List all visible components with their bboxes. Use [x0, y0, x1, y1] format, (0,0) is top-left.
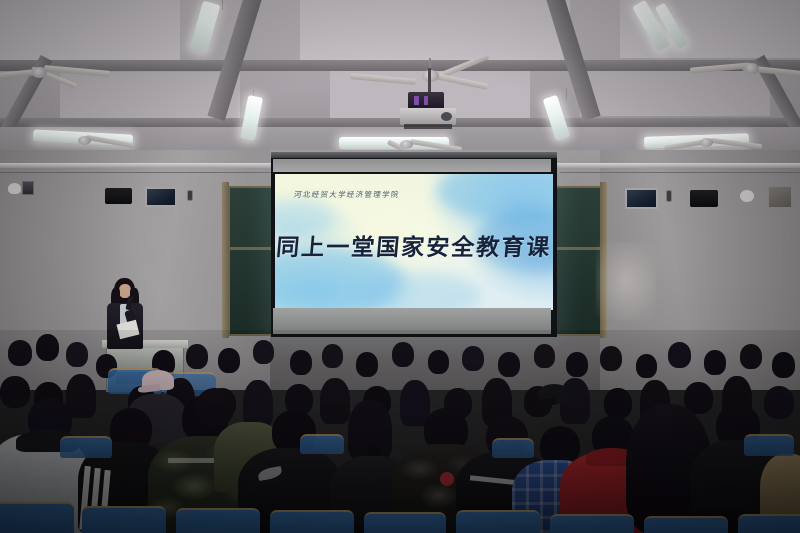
chalkboard-rail [552, 247, 602, 250]
wall-camera [740, 190, 754, 202]
student-head [740, 344, 762, 369]
student-head [668, 342, 691, 368]
student-long-hair [320, 378, 350, 424]
student-head [772, 352, 795, 378]
student-head [498, 352, 520, 377]
student-head [8, 340, 32, 366]
student-head [356, 352, 378, 377]
wall-cable [0, 172, 290, 173]
student-head [636, 354, 657, 378]
student-head [534, 344, 555, 368]
projector-indicator [414, 96, 419, 105]
student-head [36, 334, 59, 361]
student-head [253, 340, 274, 364]
blue-auditorium-chair[interactable] [744, 434, 794, 456]
student-head [392, 342, 414, 367]
blue-auditorium-chair[interactable] [270, 510, 354, 533]
blue-auditorium-chair[interactable] [456, 510, 540, 533]
student-head [704, 350, 726, 375]
screen-mount-bar [271, 152, 557, 158]
student-head [462, 346, 484, 371]
blue-auditorium-chair[interactable] [60, 436, 112, 458]
wall-junction-box [22, 181, 34, 195]
wall-speaker [690, 190, 718, 207]
ceiling-fan [18, 128, 148, 152]
hoodie-badge [440, 472, 454, 486]
wall-display-panel[interactable] [145, 187, 177, 207]
ceiling [0, 0, 800, 165]
student-head [218, 348, 240, 373]
student-head [600, 346, 622, 371]
electrical-box [768, 186, 792, 208]
chalkboard-frame-left [222, 182, 229, 338]
wall-cable [560, 172, 800, 173]
student-head [0, 376, 30, 408]
student-head [290, 350, 312, 375]
student-head [764, 386, 794, 419]
ceiling-fan [352, 62, 492, 94]
projector-shadow [404, 124, 452, 129]
presentation-slide: 河北经贸大学经济管理学院 同上一堂国家安全教育课 [275, 174, 553, 310]
blue-auditorium-chair[interactable] [300, 434, 344, 454]
blue-auditorium-chair[interactable] [364, 512, 446, 533]
student-head [186, 344, 208, 369]
student-head [604, 388, 632, 419]
ceiling-fan [0, 62, 110, 88]
student-black-cap-brim [534, 398, 557, 407]
student-long-hair [243, 380, 273, 428]
projector-lens [441, 112, 452, 121]
ceiling-fan [690, 58, 800, 84]
screen-top-strip [273, 159, 551, 172]
blue-auditorium-chair[interactable] [176, 508, 260, 533]
blue-auditorium-chair[interactable] [492, 438, 534, 458]
green-chalkboard [552, 186, 602, 336]
blue-auditorium-chair[interactable] [82, 506, 166, 533]
projector-indicator [424, 96, 428, 105]
student-head [322, 344, 343, 368]
blue-auditorium-chair[interactable] [738, 514, 800, 533]
wall-display-panel[interactable] [625, 188, 658, 209]
fluorescent-tube-light [189, 0, 220, 53]
blue-auditorium-chair[interactable] [0, 502, 74, 533]
slide-header-text: 河北经贸大学经济管理学院 [294, 189, 401, 200]
student-head [66, 342, 88, 367]
corner-camera [8, 183, 21, 194]
lecture-hall-photo: 河北经贸大学经济管理学院 同上一堂国家安全教育课 [0, 0, 800, 533]
seated-students [0, 330, 800, 533]
wall-poster-residue [596, 242, 656, 320]
wall-speaker [105, 188, 132, 204]
student-head [566, 352, 588, 377]
student-head [196, 388, 234, 426]
blue-auditorium-chair[interactable] [550, 514, 634, 533]
wall-switch[interactable] [666, 190, 672, 202]
wall-switch[interactable] [187, 190, 193, 201]
slide-title-text: 同上一堂国家安全教育课 [275, 228, 553, 262]
student-head [428, 350, 449, 374]
blue-auditorium-chair[interactable] [644, 516, 728, 533]
projection-screen: 河北经贸大学经济管理学院 同上一堂国家安全教育课 [271, 157, 557, 337]
